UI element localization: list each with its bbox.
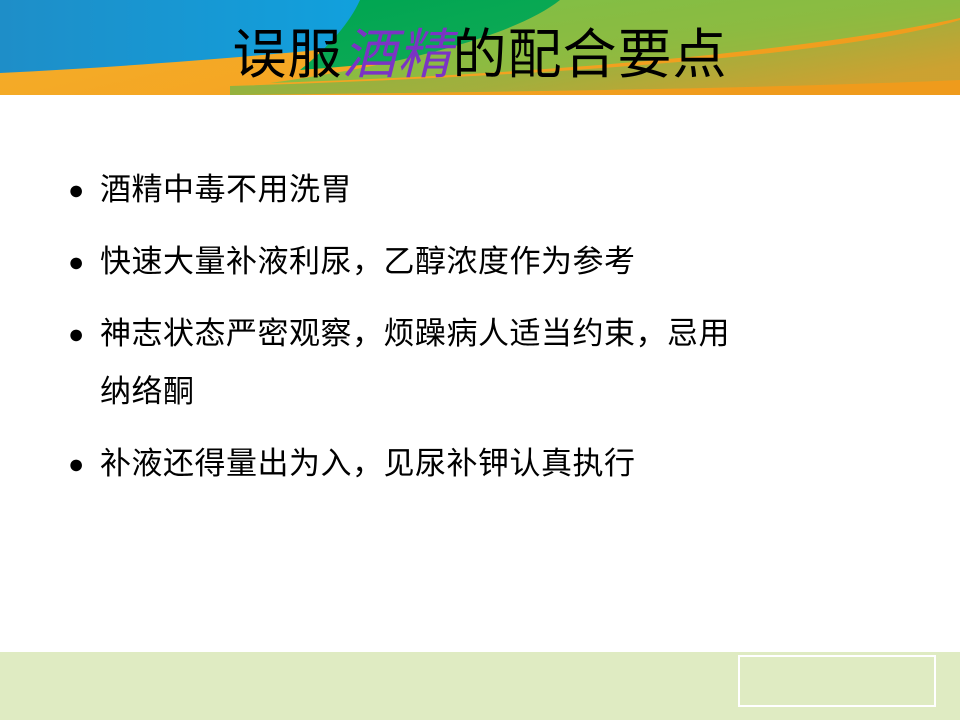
bullet-text: 酒精中毒不用洗胃 [100,168,913,212]
bullet-text-wrapper: 神志状态严密观察，烦躁病人适当约束，忌用 纳络酮 [100,312,913,414]
bullet-text: 快速大量补液利尿，乙醇浓度作为参考 [100,240,913,284]
bullet-marker-icon: ● [68,168,100,212]
bullet-text-continuation: 纳络酮 [100,370,913,414]
title-accent-word: 酒精 [343,25,453,85]
slide-title: 误服酒精的配合要点 [0,26,960,84]
footer-placeholder-box[interactable] [738,655,936,707]
list-item: ● 快速大量补液利尿，乙醇浓度作为参考 [68,240,913,284]
list-item: ● 神志状态严密观察，烦躁病人适当约束，忌用 纳络酮 [68,312,913,414]
list-item: ● 补液还得量出为入，见尿补钾认真执行 [68,442,913,486]
title-suffix: 的配合要点 [453,25,728,85]
bullet-text: 补液还得量出为入，见尿补钾认真执行 [100,442,913,486]
slide-canvas: 误服酒精的配合要点 ● 酒精中毒不用洗胃 ● 快速大量补液利尿，乙醇浓度作为参考… [0,0,960,720]
bullet-marker-icon: ● [68,312,100,356]
title-prefix: 误服 [233,25,343,85]
list-item: ● 酒精中毒不用洗胃 [68,168,913,212]
bullet-marker-icon: ● [68,240,100,284]
bullet-list: ● 酒精中毒不用洗胃 ● 快速大量补液利尿，乙醇浓度作为参考 ● 神志状态严密观… [68,168,913,514]
bullet-marker-icon: ● [68,442,100,486]
bullet-text: 神志状态严密观察，烦躁病人适当约束，忌用 [100,316,730,351]
